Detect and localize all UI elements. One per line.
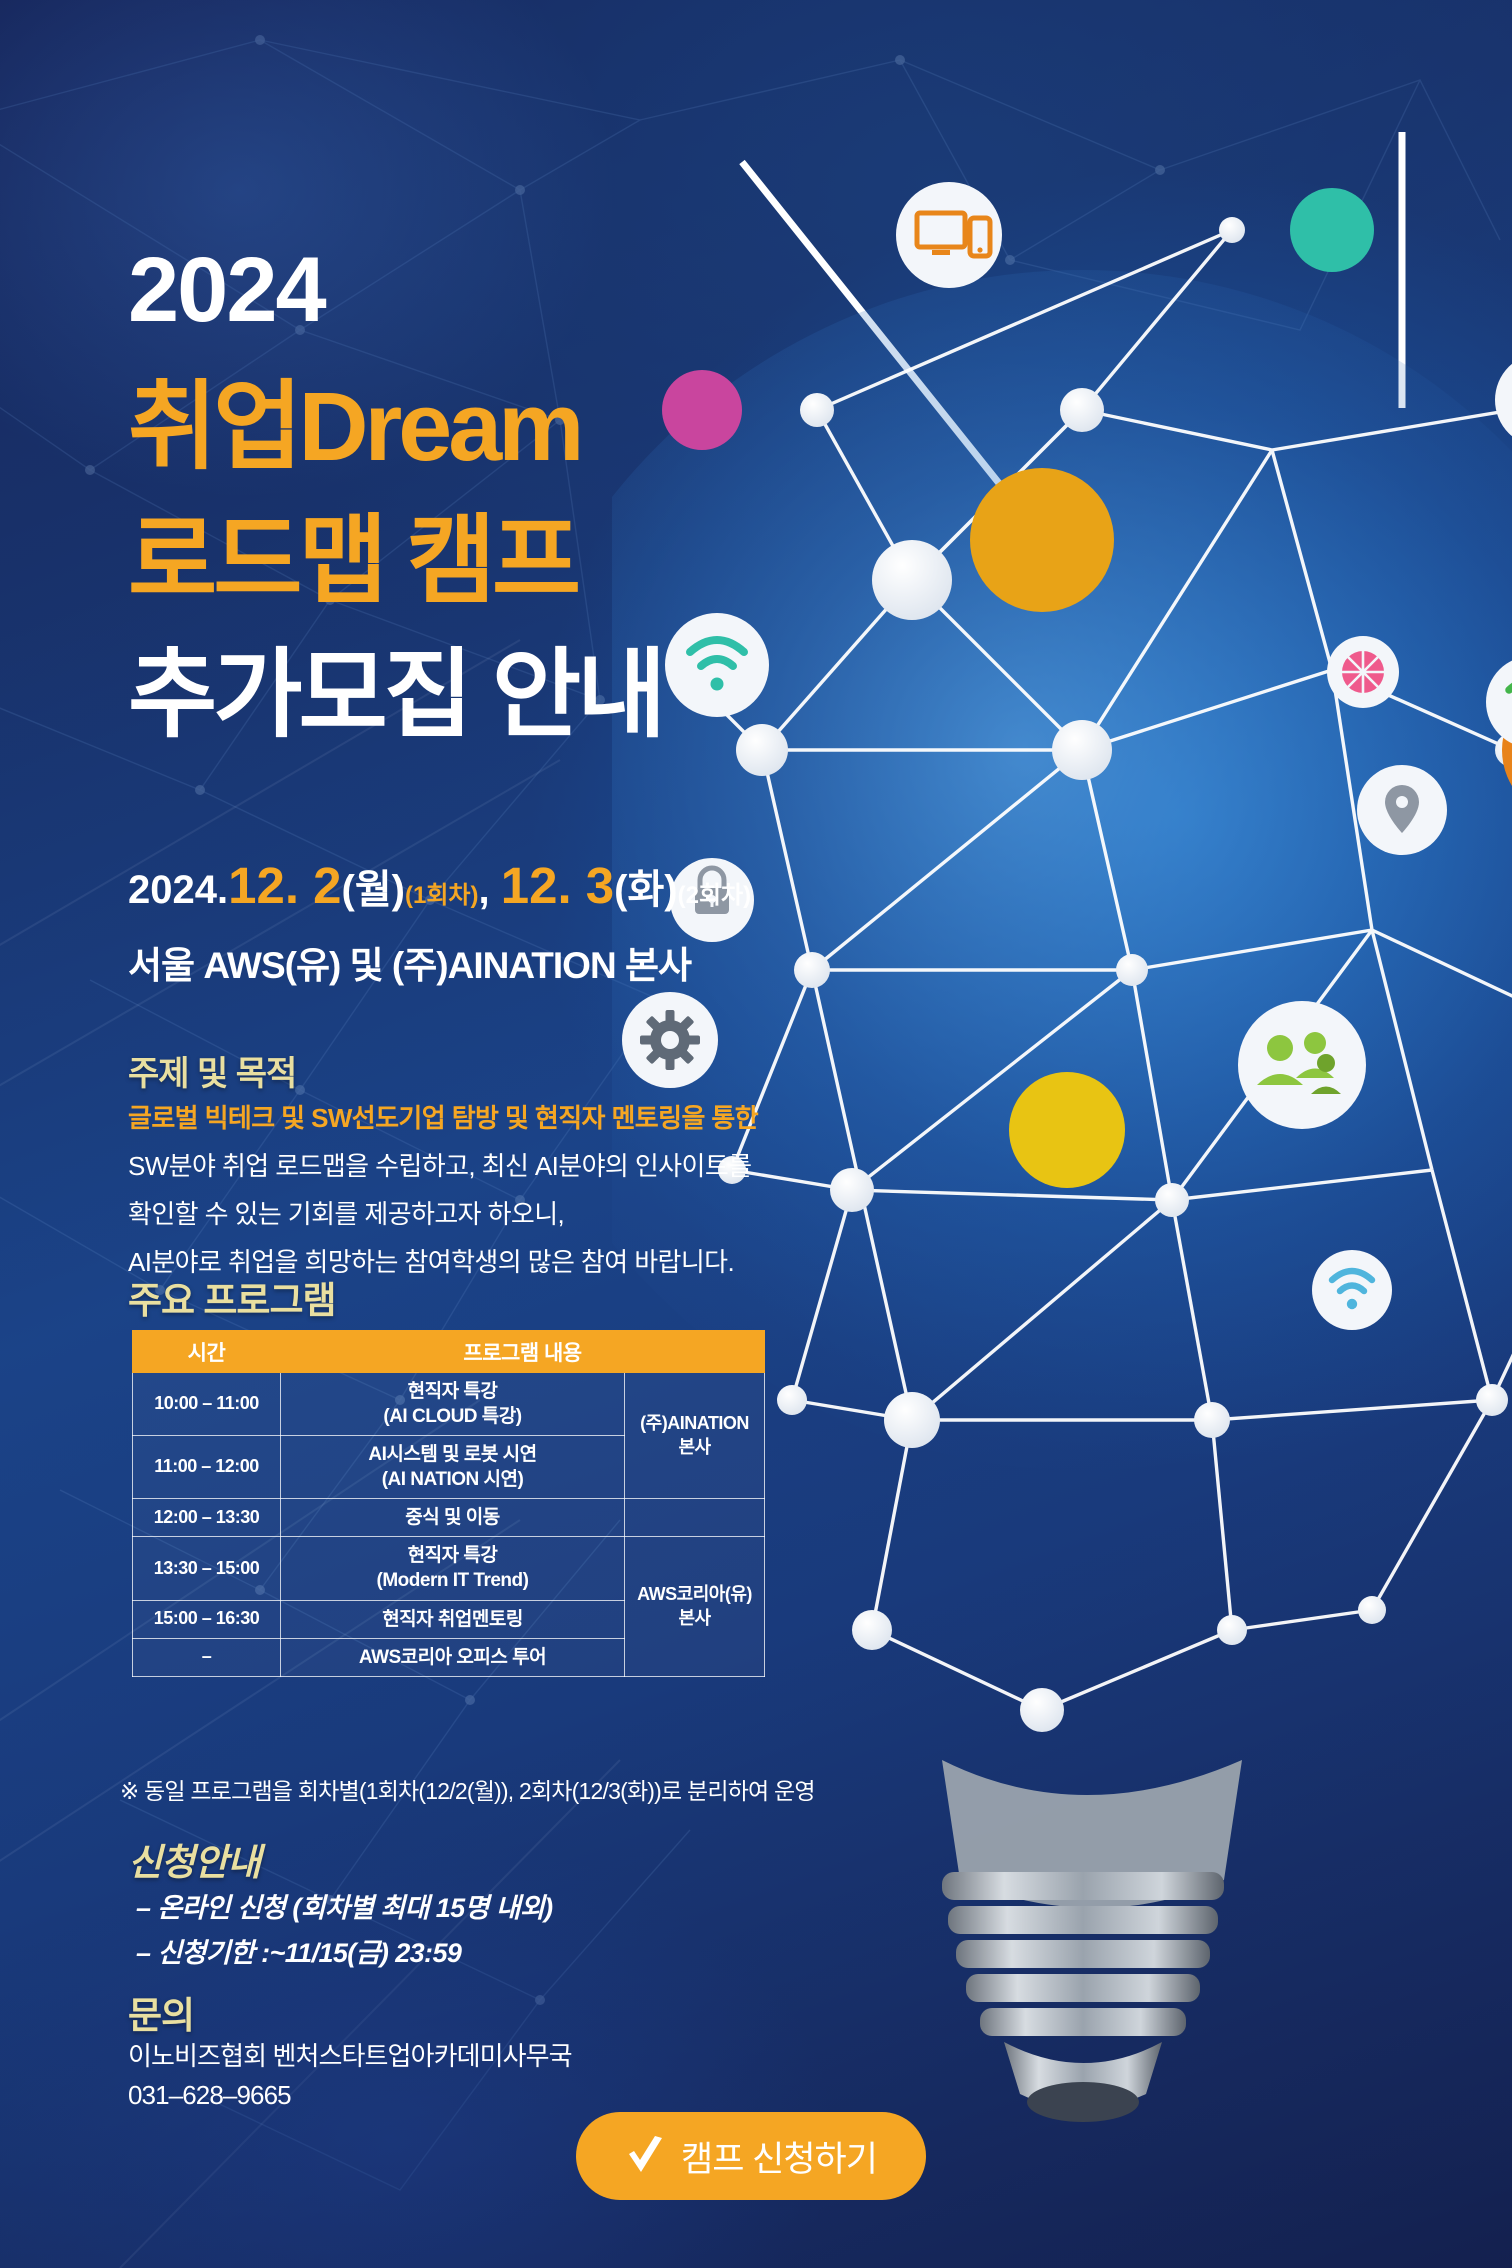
apply-item-1: – 온라인 신청 (회차별 최대 15명 내외) xyxy=(136,1886,553,1925)
section-heading-apply: 신청안내 xyxy=(128,1832,260,1886)
poster-text-column: 2024 취업Dream 로드맵 캠프 추가모집 안내 2024.12. 2(월… xyxy=(0,0,860,2268)
program-note: ※ 동일 프로그램을 회차별(1회차(12/2(월)), 2회차(12/3(화)… xyxy=(120,1772,815,1806)
check-icon xyxy=(625,2134,665,2178)
apply-item-2: – 신청기한 :~11/15(금) 23:59 xyxy=(136,1931,461,1970)
wifi-icon-lower xyxy=(1312,1250,1392,1330)
orange-node-large xyxy=(970,468,1114,612)
date-first-day: (월) xyxy=(342,868,405,912)
event-venue: 서울 AWS(유) 및 (주)AINATION 본사 xyxy=(128,935,691,989)
group-people-icon xyxy=(1238,1001,1366,1129)
cell-content: 현직자 취업멘토링 xyxy=(281,1600,625,1638)
topic-line-3: 확인할 수 있는 기회를 제공하고자 하오니, xyxy=(128,1194,564,1231)
date-separator: , xyxy=(479,868,501,912)
table-header-row: 시간 프로그램 내용 xyxy=(133,1331,765,1373)
date-first-session: (1회차) xyxy=(405,882,479,909)
location-pin-icon xyxy=(1357,765,1447,855)
cell-venue: (주)AINATION본사 xyxy=(625,1373,765,1499)
cell-content: AI시스템 및 로봇 시연(AI NATION 시연) xyxy=(281,1436,625,1499)
cell-content: 현직자 특강(Modern IT Trend) xyxy=(281,1537,625,1600)
cell-content: AWS코리아 오피스 투어 xyxy=(281,1638,625,1676)
cell-venue xyxy=(625,1499,765,1537)
cell-time: 12:00 – 13:30 xyxy=(133,1499,281,1537)
topic-line-2: SW분야 취업 로드맵을 수립하고, 최신 AI분야의 인사이트를 xyxy=(128,1146,751,1183)
date-second-day: (화) xyxy=(614,868,677,912)
cell-venue: AWS코리아(유)본사 xyxy=(625,1537,765,1676)
title-line-1: 취업Dream xyxy=(128,378,580,475)
table-row: 13:30 – 15:00현직자 특강(Modern IT Trend)AWS코… xyxy=(133,1537,765,1600)
cell-time: 13:30 – 15:00 xyxy=(133,1537,281,1600)
table-row: 12:00 – 13:30중식 및 이동 xyxy=(133,1499,765,1537)
date-second: 12. 3 xyxy=(501,857,614,914)
topic-line-1: 글로벌 빅테크 및 SW선도기업 탐방 및 현직자 멘토링을 통한 xyxy=(128,1098,758,1135)
cell-time: 10:00 – 11:00 xyxy=(133,1373,281,1436)
basketball-icon xyxy=(1327,636,1399,708)
title-line-2: 로드맵 캠프 xyxy=(128,512,577,609)
section-heading-topic: 주제 및 목적 xyxy=(128,1046,296,1095)
column-header-content: 프로그램 내용 xyxy=(281,1331,765,1373)
date-prefix: 2024. xyxy=(128,868,228,912)
teal-node xyxy=(1290,188,1374,272)
apply-camp-button[interactable]: 캠프 신청하기 xyxy=(576,2112,926,2200)
people-icon xyxy=(1495,353,1512,447)
table-row: 10:00 – 11:00현직자 특강(AI CLOUD 특강)(주)AINAT… xyxy=(133,1373,765,1436)
event-date-line: 2024.12. 2(월)(1회차), 12. 3(화)(2회차) xyxy=(128,860,751,911)
contact-organization: 이노비즈협회 벤처스타트업아카데미사무국 xyxy=(128,2036,572,2073)
cell-time: – xyxy=(133,1638,281,1676)
cell-content: 중식 및 이동 xyxy=(281,1499,625,1537)
date-second-session: (2회차) xyxy=(678,882,752,909)
section-heading-contact: 문의 xyxy=(128,1985,194,2039)
cell-time: 15:00 – 16:30 xyxy=(133,1600,281,1638)
cell-time: 11:00 – 12:00 xyxy=(133,1436,281,1499)
column-header-time: 시간 xyxy=(133,1331,281,1373)
contact-phone: 031–628–9665 xyxy=(128,2080,291,2111)
program-schedule-table: 시간 프로그램 내용 10:00 – 11:00현직자 특강(AI CLOUD … xyxy=(132,1330,765,1677)
apply-camp-label: 캠프 신청하기 xyxy=(681,2131,877,2182)
program-table-body: 10:00 – 11:00현직자 특강(AI CLOUD 특강)(주)AINAT… xyxy=(133,1373,765,1677)
title-line-3: 추가모집 안내 xyxy=(128,646,662,743)
bulb-base xyxy=(942,1760,1242,2122)
yellow-node xyxy=(1009,1072,1125,1188)
monitor-mobile-icon xyxy=(896,182,1002,288)
cell-content: 현직자 특강(AI CLOUD 특강) xyxy=(281,1373,625,1436)
year-label: 2024 xyxy=(128,244,325,336)
date-first: 12. 2 xyxy=(228,857,341,914)
poster-canvas: 2024 취업Dream 로드맵 캠프 추가모집 안내 2024.12. 2(월… xyxy=(0,0,1512,2268)
section-heading-program: 주요 프로그램 xyxy=(128,1270,336,1324)
